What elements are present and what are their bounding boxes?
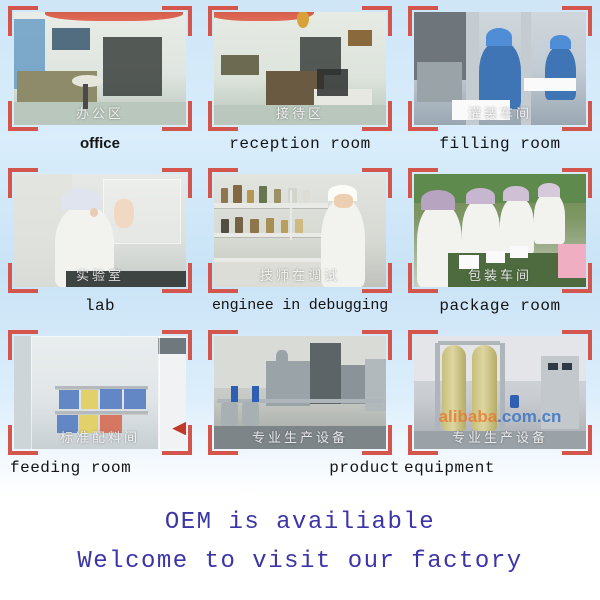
caption-reception-room: reception room	[200, 133, 400, 155]
scene-filling	[414, 12, 586, 125]
caption-equipment: equipment	[400, 457, 600, 479]
photo-frame-reception-room: 接待区	[208, 6, 392, 131]
photo-enginee-in-debugging: 技师在调试	[214, 174, 386, 287]
photo-frame-product: 专业生产设备	[208, 330, 392, 455]
caption-product: product	[200, 457, 408, 479]
footer-line-oem: OEM is availiable	[0, 495, 600, 536]
caption-package-room: package room	[400, 295, 600, 317]
footer-line-welcome: Welcome to visit our factory	[0, 536, 600, 575]
caption-lab: lab	[0, 295, 200, 317]
footer-message: OEM is availiable Welcome to visit our f…	[0, 495, 600, 600]
caption-feeding-room: feeding room	[0, 457, 210, 479]
caption-filling-room: filling room	[400, 133, 600, 155]
photo-package-room: 包装车间	[414, 174, 586, 287]
caption-office: office	[0, 133, 200, 155]
photo-frame-package-room: 包装车间	[408, 168, 592, 293]
photo-equipment: alibaba.com.cn 专业生产设备	[414, 336, 586, 449]
photo-frame-enginee-in-debugging: 技师在调试	[208, 168, 392, 293]
scene-package	[414, 174, 586, 287]
caption-enginee-in-debugging: enginee in debugging	[200, 295, 400, 317]
photo-office: 办公区	[14, 12, 186, 125]
scene-product	[214, 336, 386, 449]
scene-engineer	[214, 174, 386, 287]
photo-grid: 办公区 office	[0, 0, 600, 495]
photo-filling-room: 灌装车间	[414, 12, 586, 125]
photo-reception-room: 接待区	[214, 12, 386, 125]
scene-office	[14, 12, 186, 125]
factory-photo-collage: 办公区 office	[0, 0, 600, 600]
scene-feeding	[14, 336, 186, 449]
scene-lab	[14, 174, 186, 287]
photo-frame-office: 办公区	[8, 6, 192, 131]
photo-feeding-room: 标准配料间	[14, 336, 186, 449]
photo-frame-equipment: alibaba.com.cn 专业生产设备	[408, 330, 592, 455]
photo-lab: 实验室	[14, 174, 186, 287]
scene-reception	[214, 12, 386, 125]
photo-frame-filling-room: 灌装车间	[408, 6, 592, 131]
photo-frame-lab: 实验室	[8, 168, 192, 293]
photo-frame-feeding-room: 标准配料间	[8, 330, 192, 455]
photo-product: 专业生产设备	[214, 336, 386, 449]
scene-equipment	[414, 336, 586, 449]
